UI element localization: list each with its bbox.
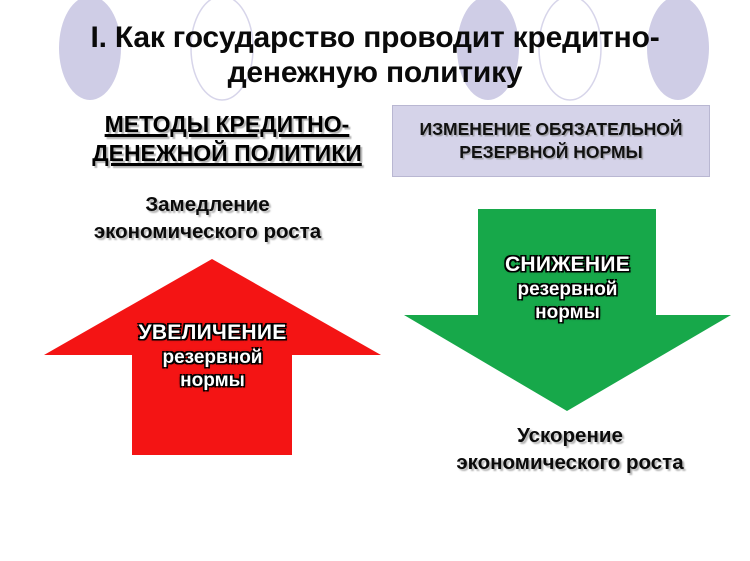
red-arrow-label: УВЕЛИЧЕНИЕ резервной нормы	[85, 320, 340, 393]
green-arrow-label: СНИЖЕНИЕ резервной нормы	[455, 252, 680, 325]
reserve-norm-change-label: ИЗМЕНЕНИЕ ОБЯЗАТЕЛЬНОЙ РЕЗЕРВНОЙ НОРМЫ	[420, 118, 683, 164]
slide-title: I. Как государство проводит кредитно- де…	[30, 20, 720, 91]
caption-economic-slowdown: Замедление экономического роста	[35, 192, 380, 245]
green-arrow-label-strong: СНИЖЕНИЕ	[455, 252, 680, 278]
red-arrow-label-sub1: резервной	[85, 346, 340, 370]
green-arrow-label-sub2: нормы	[455, 301, 680, 325]
caption-economic-growth: Ускорение экономического роста	[405, 423, 735, 476]
methods-heading: МЕТОДЫ КРЕДИТНО- ДЕНЕЖНОЙ ПОЛИТИКИ	[62, 110, 392, 169]
green-arrow-label-sub1: резервной	[455, 278, 680, 302]
slide-canvas: I. Как государство проводит кредитно- де…	[0, 0, 750, 561]
red-arrow-label-strong: УВЕЛИЧЕНИЕ	[85, 320, 340, 346]
red-arrow-label-sub2: нормы	[85, 369, 340, 393]
reserve-norm-change-box: ИЗМЕНЕНИЕ ОБЯЗАТЕЛЬНОЙ РЕЗЕРВНОЙ НОРМЫ	[392, 105, 710, 177]
